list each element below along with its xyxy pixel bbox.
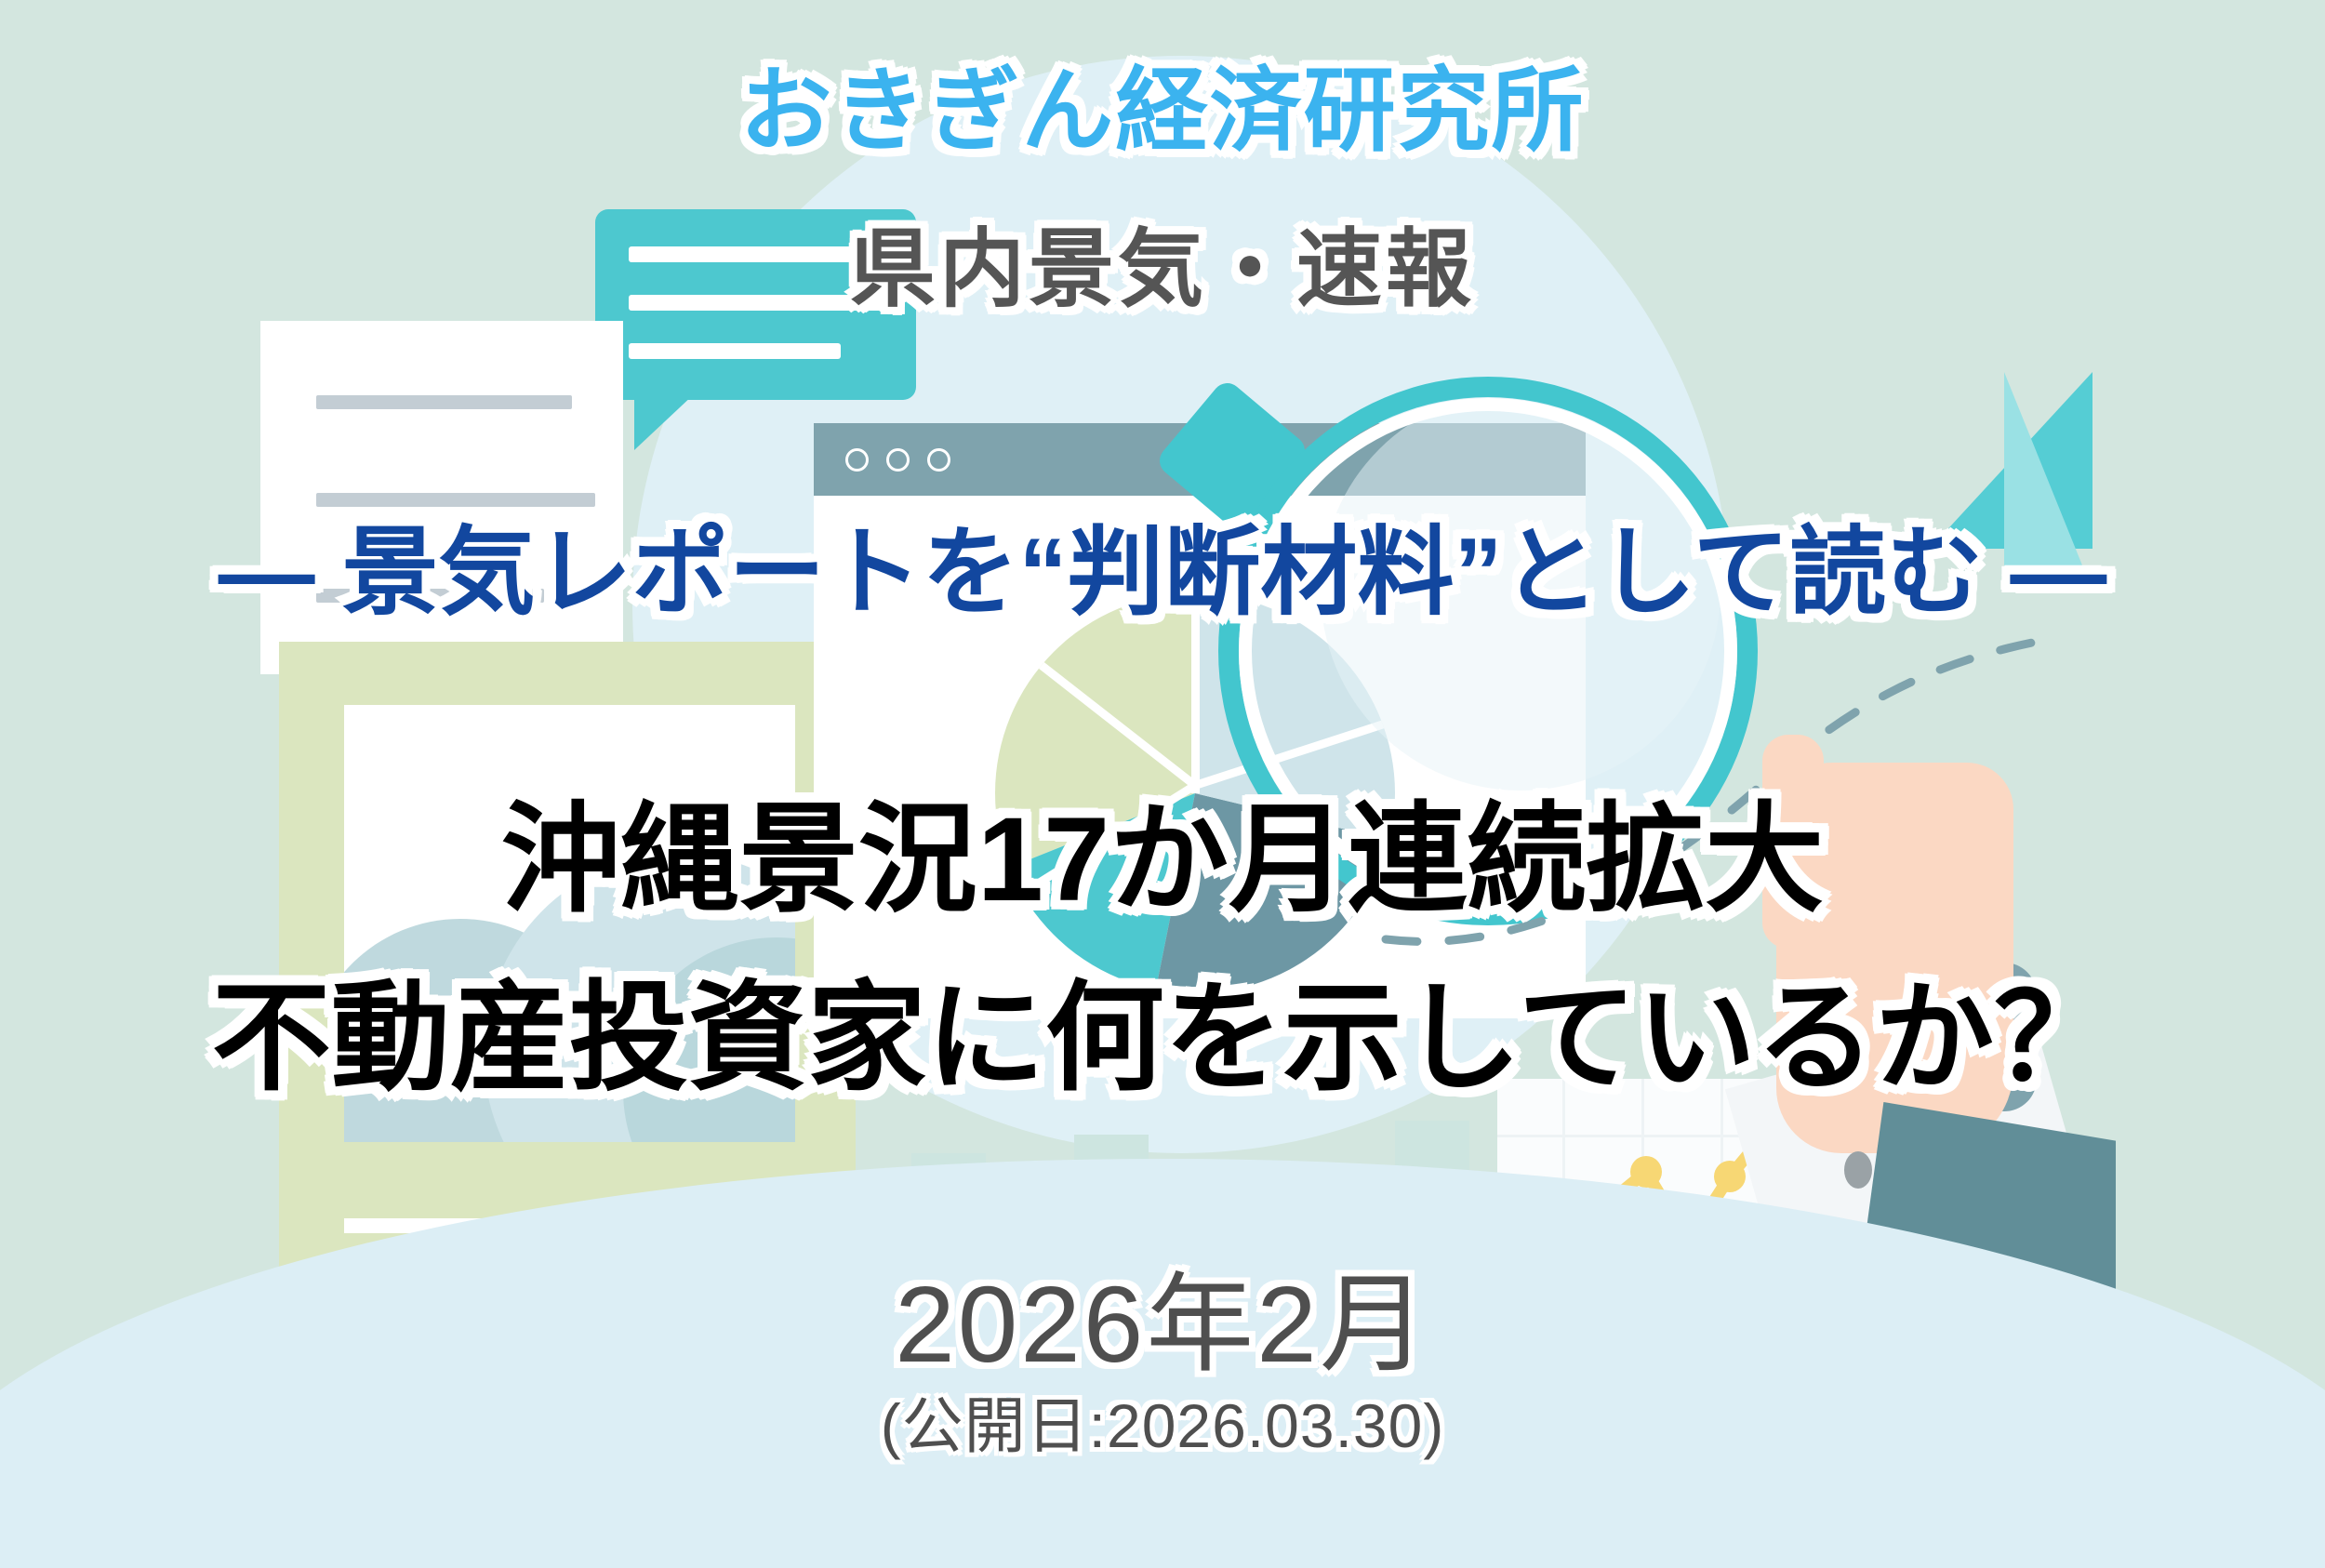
brand-title: おきぎん経済研究所 — [0, 35, 2325, 169]
browser-dot-3 — [927, 448, 950, 472]
headline-line-2: 不動産投資家に何を示しているか？ — [0, 941, 2325, 1113]
bubble-tail — [634, 394, 694, 450]
browser-dot-1 — [845, 448, 869, 472]
publish-date: (公開日:2026.03.30) — [0, 1376, 2325, 1466]
poster-canvas: おきぎん経済研究所 県内景気・速報 — 景気レポートを“判断材料”として読む —… — [0, 0, 2325, 1568]
kicker-label: 県内景気・速報 — [0, 200, 2325, 324]
lead-line: — 景気レポートを“判断材料”として読む — — [0, 493, 2325, 633]
headline-line-1: 沖縄景況17か月連続拡大 — [0, 763, 2325, 935]
browser-dot-2 — [886, 448, 910, 472]
cuff-button — [1844, 1151, 1872, 1189]
report-period: 2026年2月 — [0, 1237, 2325, 1393]
